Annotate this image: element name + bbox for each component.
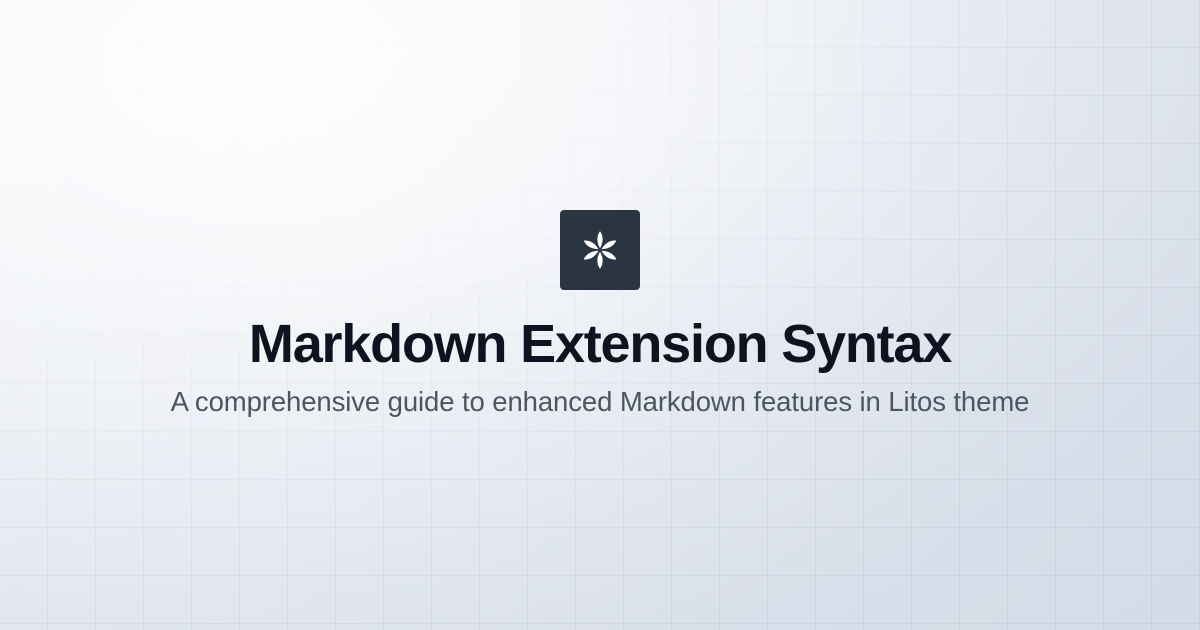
page-title: Markdown Extension Syntax xyxy=(249,316,951,373)
og-card: Markdown Extension Syntax A comprehensiv… xyxy=(0,0,1200,630)
flower-asterisk-icon xyxy=(578,228,622,272)
card-content: Markdown Extension Syntax A comprehensiv… xyxy=(0,0,1200,630)
logo-badge xyxy=(560,210,640,290)
page-subtitle: A comprehensive guide to enhanced Markdo… xyxy=(171,385,1030,419)
